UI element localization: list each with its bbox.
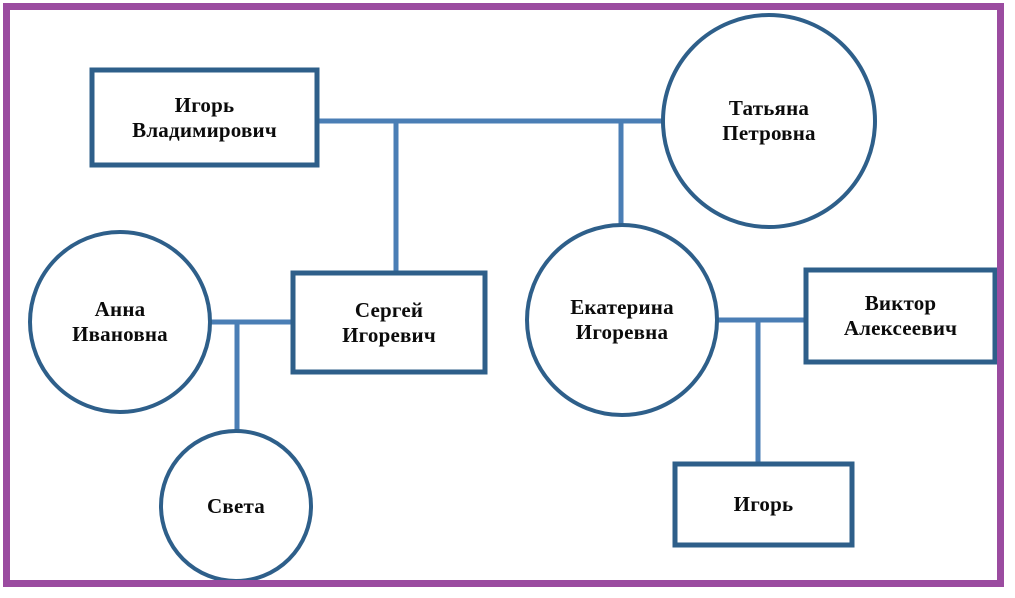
node-shape-sergey-igorevich[interactable]: [293, 273, 485, 372]
diagram-svg: [0, 0, 1015, 598]
node-outline-layer: [30, 15, 995, 581]
node-shape-anna-ivanovna[interactable]: [30, 232, 210, 412]
diagram-canvas: Игорь Владимирович Татьяна Петровна Анна…: [0, 0, 1015, 598]
node-shape-ekaterina-igorevna[interactable]: [527, 225, 717, 415]
node-shape-igor[interactable]: [675, 464, 852, 545]
node-shape-igor-vladimirovich[interactable]: [92, 70, 317, 165]
node-shape-sveta[interactable]: [161, 431, 311, 581]
node-shape-viktor-alekseevich[interactable]: [806, 270, 995, 362]
node-shape-tatyana-petrovna[interactable]: [663, 15, 875, 227]
